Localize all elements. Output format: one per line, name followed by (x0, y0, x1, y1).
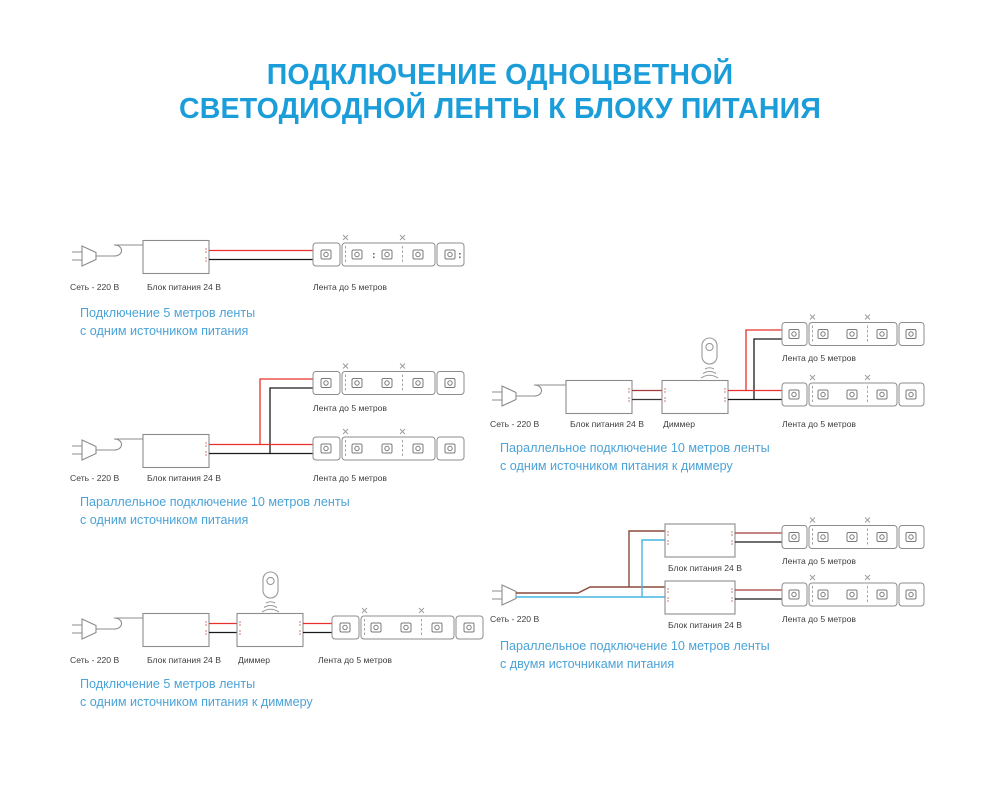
dc-wires (209, 251, 313, 260)
mains-plug-icon (492, 381, 566, 407)
dc-wires-branch (728, 330, 782, 400)
caption-5: Параллельное подключение 10 метров ленты… (500, 637, 770, 673)
label-dimmer-4: Диммер (663, 419, 695, 429)
dc-wires (209, 379, 313, 454)
ac-wires (516, 531, 665, 597)
schematic-4 (490, 320, 930, 432)
label-strip-3: Лента до 5 метров (318, 655, 392, 665)
label-dimmer-3: Диммер (238, 655, 270, 665)
label-strip-1: Лента до 5 метров (313, 282, 387, 292)
label-mains-5: Сеть - 220 В (490, 614, 539, 624)
label-psu-2: Блок питания 24 В (147, 473, 221, 483)
diagram-2-graphic (70, 368, 490, 478)
schematic-1 (70, 232, 490, 292)
dc-wires (735, 533, 782, 599)
led-strip (313, 364, 464, 395)
diagram-4-graphic (490, 320, 930, 432)
schematic-3 (70, 570, 490, 665)
caption-2: Параллельное подключение 10 метров ленты… (80, 493, 350, 529)
label-strip-4b: Лента до 5 метров (782, 419, 856, 429)
label-strip-5a: Лента до 5 метров (782, 556, 856, 566)
power-supply-box (143, 241, 209, 274)
led-strip (782, 575, 924, 606)
remote-control-icon (701, 338, 718, 378)
mains-plug-icon (72, 614, 143, 640)
caption-5-line-2: с двумя источниками питания (500, 655, 770, 673)
diagram-single-strip-one-psu: Сеть - 220 В Блок питания 24 В Лента до … (70, 232, 490, 332)
led-strip (782, 315, 924, 346)
label-mains-2: Сеть - 220 В (70, 473, 119, 483)
dc-wires-dimmer-strip (303, 624, 332, 633)
label-strip-2a: Лента до 5 метров (313, 403, 387, 413)
label-strip-4a: Лента до 5 метров (782, 353, 856, 363)
label-strip-2b: Лента до 5 метров (313, 473, 387, 483)
diagram-1-graphic (70, 232, 490, 292)
caption-1-line-2: с одним источником питания (80, 322, 255, 340)
dc-wires-psu-dimmer (209, 624, 237, 633)
led-strip (313, 235, 464, 266)
dc-wires-psu-dimmer (632, 391, 662, 400)
caption-4-line-1: Параллельное подключение 10 метров ленты (500, 439, 770, 457)
label-mains-1: Сеть - 220 В (70, 282, 119, 292)
page-title-line-2: СВЕТОДИОДНОЙ ЛЕНТЫ К БЛОКУ ПИТАНИЯ (0, 92, 1000, 126)
caption-4: Параллельное подключение 10 метров ленты… (500, 439, 770, 475)
label-psu-5a: Блок питания 24 В (668, 563, 742, 573)
page-title-line-1: ПОДКЛЮЧЕНИЕ ОДНОЦВЕТНОЙ (0, 58, 1000, 92)
dimmer-box (237, 614, 303, 647)
power-supply-box (143, 435, 209, 468)
caption-1-line-1: Подключение 5 метров ленты (80, 304, 255, 322)
power-supply-box (665, 581, 735, 614)
label-psu-1: Блок питания 24 В (147, 282, 221, 292)
led-strip (782, 518, 924, 549)
label-psu-4: Блок питания 24 В (570, 419, 644, 429)
schematic-2 (70, 368, 490, 478)
caption-3-line-1: Подключение 5 метров ленты (80, 675, 313, 693)
mains-plug-icon (72, 241, 143, 267)
mains-plug-icon (492, 585, 516, 605)
diagram-3-graphic (70, 570, 490, 665)
caption-4-line-2: с одним источником питания к диммеру (500, 457, 770, 475)
caption-3: Подключение 5 метров ленты с одним источ… (80, 675, 313, 711)
caption-3-line-2: с одним источником питания к диммеру (80, 693, 313, 711)
label-psu-5b: Блок питания 24 В (668, 620, 742, 630)
caption-2-line-1: Параллельное подключение 10 метров ленты (80, 493, 350, 511)
label-mains-3: Сеть - 220 В (70, 655, 119, 665)
diagram-parallel-two-strips-with-dimmer: Лента до 5 метров Сеть - 220 В Блок пита… (490, 320, 930, 475)
power-supply-box (665, 524, 735, 557)
label-psu-3: Блок питания 24 В (147, 655, 221, 665)
remote-control-icon (262, 572, 279, 612)
led-strip (332, 608, 483, 639)
dimmer-box (662, 381, 728, 414)
mains-plug-icon (72, 435, 143, 461)
caption-5-line-1: Параллельное подключение 10 метров ленты (500, 637, 770, 655)
diagram-parallel-two-strips-one-psu: Лента до 5 метров Сеть - 220 В Блок пита… (70, 368, 490, 523)
caption-2-line-2: с одним источником питания (80, 511, 350, 529)
led-strip (782, 375, 924, 406)
label-mains-4: Сеть - 220 В (490, 419, 539, 429)
caption-1: Подключение 5 метров ленты с одним источ… (80, 304, 255, 340)
diagram-single-strip-with-dimmer: Сеть - 220 В Блок питания 24 В Диммер Ле… (70, 570, 490, 700)
power-supply-box (566, 381, 632, 414)
label-strip-5b: Лента до 5 метров (782, 614, 856, 624)
power-supply-box (143, 614, 209, 647)
page-title: ПОДКЛЮЧЕНИЕ ОДНОЦВЕТНОЙ СВЕТОДИОДНОЙ ЛЕН… (0, 58, 1000, 126)
diagram-parallel-two-strips-two-psu: Блок питания 24 В Лента до 5 метров Сеть… (490, 515, 930, 685)
led-strip (313, 429, 464, 460)
